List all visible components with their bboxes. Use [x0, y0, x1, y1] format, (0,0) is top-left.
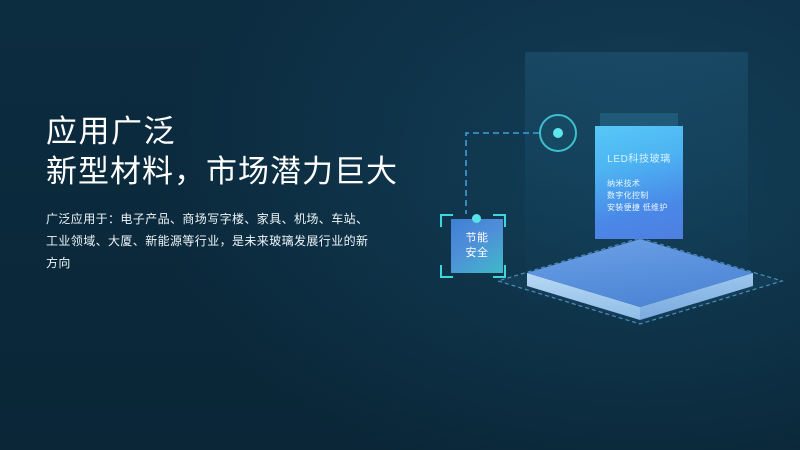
headline-line-2: 新型材料，市场潜力巨大: [46, 152, 446, 192]
led-glass-panel-title: LED科技玻璃: [595, 150, 683, 165]
feature-item: 纳米技术: [607, 178, 668, 190]
feature-tag-box: 节能 安全: [451, 219, 503, 273]
feature-item: 安装便捷 低维护: [607, 202, 668, 214]
led-glass-panel-features: 纳米技术 数字化控制 安装便捷 低维护: [607, 178, 668, 214]
feature-tag-line1: 节能: [466, 231, 489, 246]
text-block: 应用广泛 新型材料，市场潜力巨大 广泛应用于：电子产品、商场写字楼、家具、机场、…: [46, 112, 446, 274]
connector-node-core: [553, 128, 563, 138]
connector-node-circle: [539, 114, 577, 152]
headline-line-1: 应用广泛: [46, 112, 446, 152]
body-paragraph: 广泛应用于：电子产品、商场写字楼、家具、机场、车站、工业领域、大厦、新能源等行业…: [46, 208, 376, 274]
led-glass-panel: LED科技玻璃 纳米技术 数字化控制 安装便捷 低维护: [595, 126, 683, 239]
slide-canvas: LED科技玻璃 纳米技术 数字化控制 安装便捷 低维护 节能 安全 应用广泛 新…: [0, 0, 800, 450]
feature-tag-line2: 安全: [466, 246, 489, 261]
feature-tag-dot: [472, 214, 481, 223]
feature-item: 数字化控制: [607, 190, 668, 202]
feature-tag: 节能 安全: [440, 211, 514, 281]
